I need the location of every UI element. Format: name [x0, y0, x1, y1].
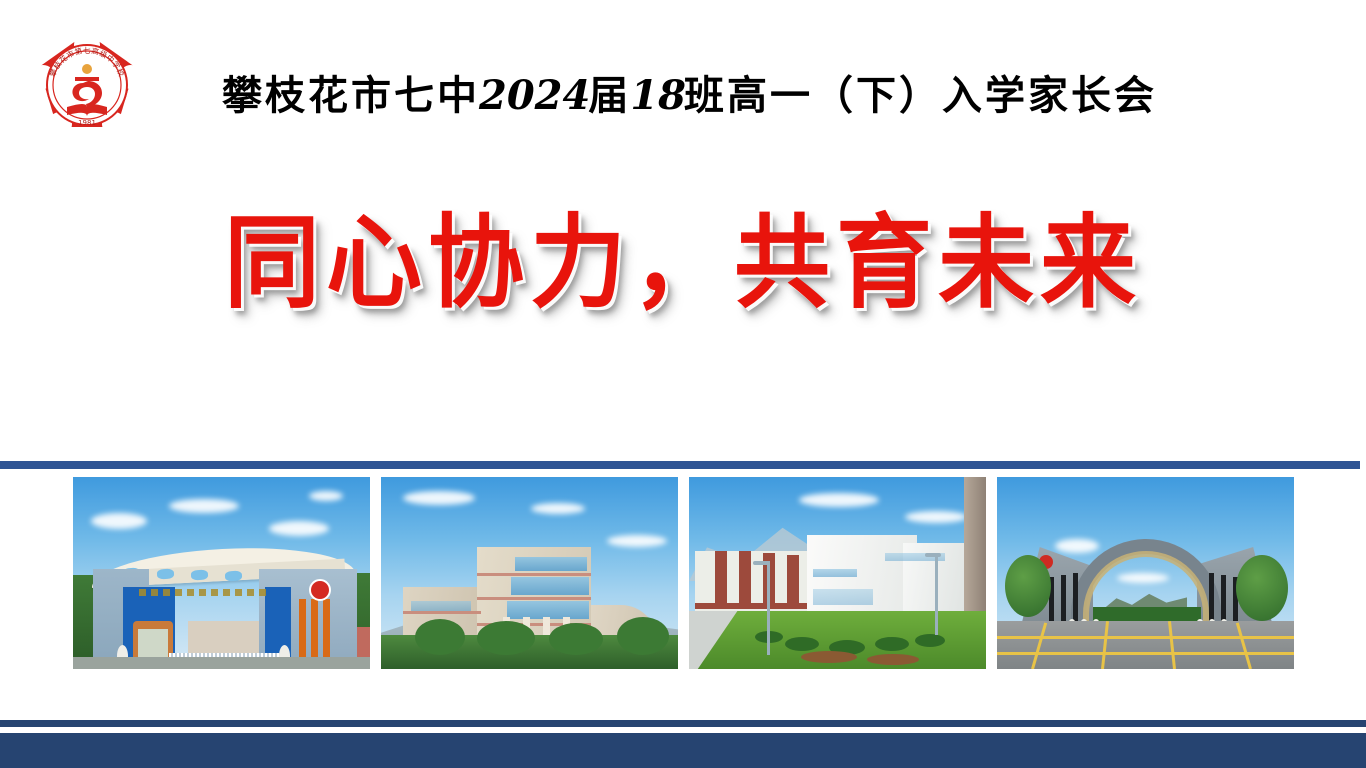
photo-strip	[73, 477, 1294, 669]
photo1-gate-sign-text	[139, 589, 269, 596]
photo-stone-arch-gate-plaza	[997, 477, 1294, 669]
photo3-flower-bed	[801, 651, 857, 663]
photo3-brick-band	[695, 603, 807, 609]
cloud	[91, 513, 147, 529]
footer-bar-thin	[0, 720, 1366, 727]
photo2-window-band	[515, 557, 587, 571]
crest-year-text: 1981	[78, 119, 96, 127]
presentation-slide: 攀枝花市第七高级中学校 1981 攀枝花市七中2024届18班高一（下）入学家长…	[0, 0, 1366, 768]
cloud	[1055, 539, 1099, 553]
cloud	[269, 521, 329, 536]
cloud	[607, 535, 667, 547]
photo3-hedge	[875, 637, 909, 651]
photo4-slit	[1061, 575, 1066, 627]
photo4-tree-right	[1236, 555, 1288, 621]
photo3-brick-band	[787, 555, 799, 603]
photo1-gate-crest-icon	[309, 579, 331, 601]
photo3-street-lamp	[935, 553, 938, 635]
photo1-orange-column	[311, 599, 318, 659]
photo3-hedge	[785, 637, 819, 651]
photo3-street-lamp	[767, 561, 770, 655]
photo1-arch-gap	[157, 569, 175, 580]
photo2-tree	[549, 623, 603, 655]
photo1-ground	[73, 657, 370, 669]
title-segment-school: 攀枝花市七中	[222, 73, 480, 119]
divider-bar-top	[0, 461, 1360, 469]
title-segment-cohort: 届	[588, 73, 631, 119]
photo2-tree	[415, 619, 465, 655]
photo3-window-band	[813, 569, 857, 577]
slide-headline: 同心协力，共育未来	[224, 212, 1142, 314]
photo2-window-band	[411, 601, 471, 611]
photo3-hedge	[915, 634, 945, 647]
photo3-flower-bed	[867, 654, 919, 665]
title-segment-year: 2024	[479, 72, 590, 119]
photo3-lamp-head	[753, 561, 769, 565]
title-segment-meeting: 班高一（下）入学家长会	[684, 73, 1157, 119]
photo-school-front-gate-curved-arch	[73, 477, 370, 669]
photo2-trim	[477, 573, 591, 576]
photo3-window-band	[813, 589, 873, 605]
photo1-orange-column	[323, 599, 330, 659]
school-crest-logo: 攀枝花市第七高级中学校 1981	[27, 27, 147, 147]
page-title: 攀枝花市七中2024届18班高一（下）入学家长会	[222, 68, 1222, 124]
photo4-tree-left	[1005, 555, 1051, 617]
photo1-arch-gap	[225, 571, 243, 582]
photo2-trim	[403, 611, 481, 614]
photo1-orange-column	[299, 599, 306, 659]
slide-header: 攀枝花市第七高级中学校 1981 攀枝花市七中2024届18班高一（下）入学家长…	[0, 0, 1366, 160]
photo2-trim	[477, 597, 591, 600]
photo3-lamp-head	[925, 553, 941, 557]
photo-campus-lawn-and-buildings	[689, 477, 986, 669]
photo4-plaza-line	[997, 652, 1294, 655]
photo2-window-band	[511, 577, 589, 595]
cloud	[169, 499, 239, 513]
cloud	[403, 491, 475, 505]
photo1-kiosk-window	[138, 629, 168, 659]
photo2-tree	[617, 617, 669, 655]
photo1-arch-gap	[191, 570, 209, 581]
photo-teaching-building	[381, 477, 678, 669]
title-segment-class-number: 18	[630, 72, 686, 119]
photo3-brick-band	[739, 551, 751, 603]
cloud	[309, 491, 343, 501]
photo3-right-building	[964, 477, 986, 627]
footer-bar-thick	[0, 733, 1366, 768]
cloud	[905, 511, 967, 523]
cloud	[799, 493, 879, 507]
cloud	[531, 503, 585, 514]
headline-container: 同心协力，共育未来	[0, 198, 1366, 328]
photo3-brick-band	[715, 551, 727, 603]
photo2-tree	[477, 621, 535, 655]
